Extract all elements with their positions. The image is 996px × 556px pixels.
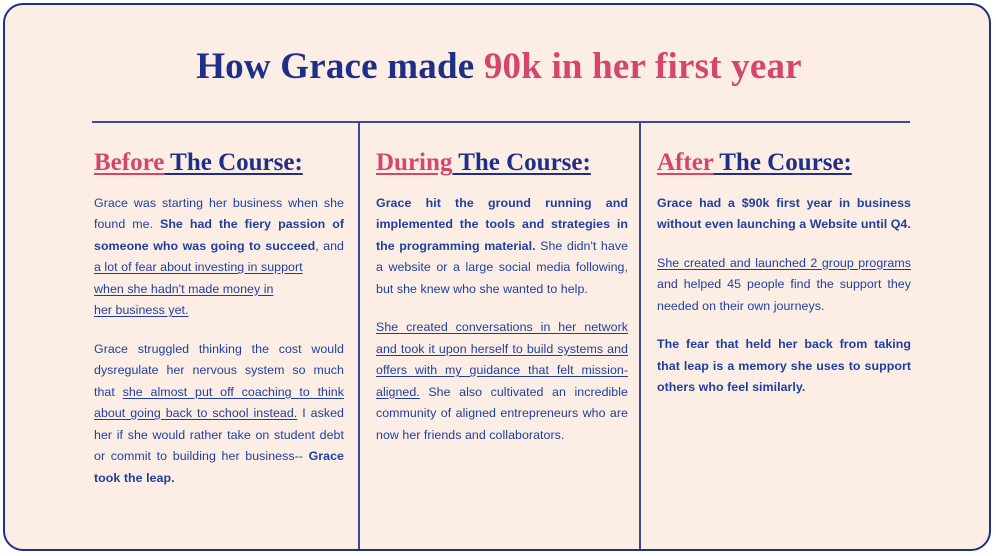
column-during: During The Course: Grace hit the ground … [358, 123, 639, 551]
column-after-heading-base: The Course: [713, 149, 851, 176]
paragraph: Grace had a $90k first year in business … [657, 193, 911, 236]
page-title-pink-part: 90k in her first year [484, 46, 802, 87]
testimonial-card: How Grace made 90k in her first year Bef… [3, 3, 991, 551]
emphasis-text: The fear that held her back from taking … [657, 337, 911, 394]
column-before-heading: Before The Course: [94, 149, 342, 177]
column-before-body: Grace was starting her business when she… [94, 193, 342, 490]
columns-container: Before The Course: Grace was starting he… [5, 123, 991, 551]
paragraph: Grace was starting her business when she… [94, 193, 344, 322]
underlined-text: a lot of fear about investing in support [94, 260, 303, 274]
paragraph: The fear that held her back from taking … [657, 334, 911, 399]
paragraph: Grace hit the ground running and impleme… [376, 193, 628, 301]
body-text: and helped 45 people find the support th… [657, 277, 911, 313]
column-before-heading-accent: Before [94, 149, 164, 176]
column-during-heading-base: The Course: [452, 149, 590, 176]
column-after-body: Grace had a $90k first year in business … [657, 193, 977, 399]
page-title: How Grace made 90k in her first year [5, 45, 991, 88]
body-text: , and [315, 239, 344, 253]
column-after: After The Course: Grace had a $90k first… [639, 123, 991, 551]
column-during-body: Grace hit the ground running and impleme… [376, 193, 623, 447]
column-after-heading: After The Course: [657, 149, 977, 177]
column-after-heading-accent: After [657, 149, 713, 176]
paragraph: She created conversations in her network… [376, 317, 628, 446]
column-before: Before The Course: Grace was starting he… [5, 123, 358, 551]
paragraph: Grace struggled thinking the cost would … [94, 339, 344, 490]
emphasis-text: Grace had a $90k first year in business … [657, 196, 911, 232]
column-during-heading: During The Course: [376, 149, 623, 177]
column-before-heading-base: The Course: [164, 149, 302, 176]
underlined-text: her business yet. [94, 300, 344, 322]
underlined-text: when she hadn't made money in [94, 279, 344, 301]
underlined-text: She created and launched 2 group program… [657, 256, 911, 270]
column-during-heading-accent: During [376, 149, 452, 176]
page-title-navy-part: How Grace made [196, 46, 484, 87]
paragraph: She created and launched 2 group program… [657, 253, 911, 318]
